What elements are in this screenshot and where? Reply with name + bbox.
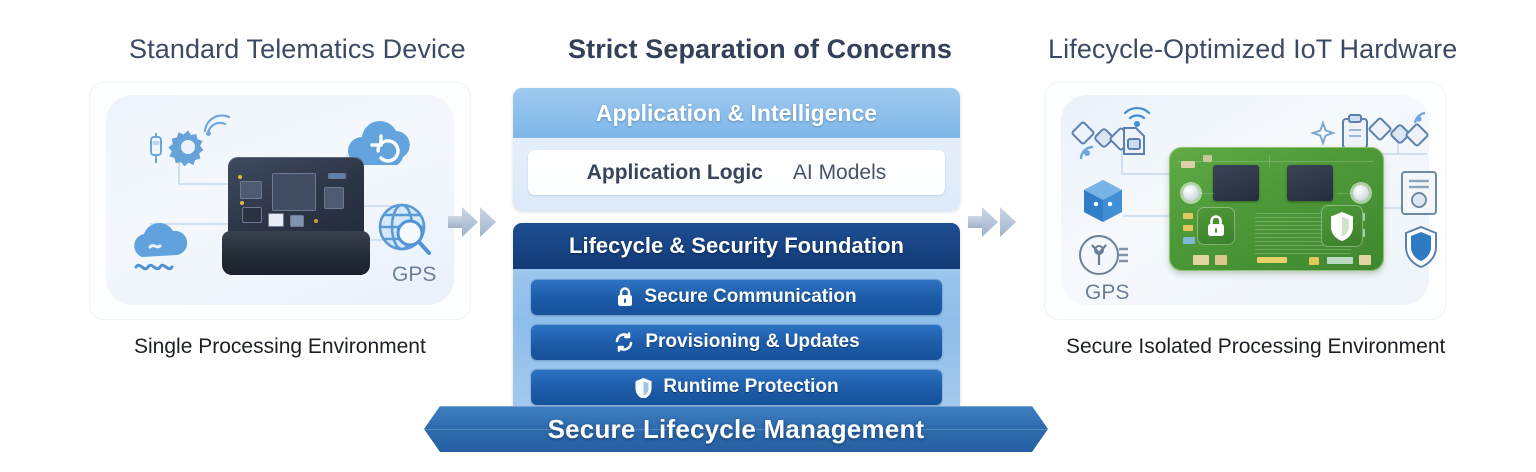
sim-card-icon [1121, 125, 1147, 157]
banner-label: Secure Lifecycle Management [424, 406, 1048, 452]
application-layer-card: Application & Intelligence Application L… [513, 88, 960, 211]
clipboard-icon [1339, 113, 1371, 151]
application-items-row: Application Logic AI Models [528, 150, 945, 195]
application-layer-header: Application & Intelligence [513, 88, 960, 138]
illustration-backdrop-right: GPS [1061, 95, 1429, 305]
flow-arrow-left [448, 205, 504, 244]
cloud-wave-icon [126, 217, 188, 277]
column-title-right: Lifecycle-Optimized IoT Hardware [1048, 34, 1457, 65]
foundation-layer-card: Lifecycle & Security Foundation Secure C… [513, 223, 960, 417]
flow-arrow-right [968, 205, 1024, 244]
shield-icon [634, 377, 653, 398]
connector-wire [1123, 215, 1173, 217]
caption-right: Secure Isolated Processing Environment [1066, 335, 1445, 359]
cube-icon [1079, 177, 1127, 225]
connector-wire [1123, 173, 1173, 175]
application-layer-body: Application Logic AI Models [513, 138, 960, 211]
caption-left: Single Processing Environment [134, 335, 426, 359]
lock-icon [616, 287, 634, 307]
application-logic-label: Application Logic [587, 161, 763, 185]
illustration-backdrop-left: GPS [106, 95, 454, 305]
pill-secure-communication[interactable]: Secure Communication [531, 279, 942, 315]
pill-label: Secure Communication [644, 286, 856, 308]
column-title-center: Strict Separation of Concerns [568, 34, 952, 65]
wifi-signal-icon [202, 111, 232, 137]
foundation-layer-body: Secure Communication Provisioning & Upda… [513, 269, 960, 417]
pill-label: Runtime Protection [663, 376, 838, 398]
architecture-stack: Application & Intelligence Application L… [513, 88, 960, 417]
telematics-device-illustration [222, 157, 370, 275]
shield-icon [1403, 225, 1439, 269]
ai-models-label: AI Models [793, 161, 886, 185]
illustration-panel-left: GPS [90, 83, 470, 319]
gps-label-left: GPS [392, 263, 436, 287]
iot-pcb-illustration [1169, 147, 1384, 271]
column-title-left: Standard Telematics Device [129, 34, 466, 65]
server-icon [1399, 169, 1439, 217]
globe-search-icon [374, 199, 438, 261]
foundation-layer-header: Lifecycle & Security Foundation [513, 223, 960, 269]
lock-icon [1197, 207, 1235, 245]
gps-label-right: GPS [1085, 281, 1129, 305]
sparkle-icon [1311, 121, 1335, 145]
diagram-canvas: Standard Telematics Device Strict Separa… [0, 0, 1536, 472]
usb-icon [146, 131, 166, 165]
gps-antenna-icon [1077, 233, 1129, 279]
secure-lifecycle-management-banner: Secure Lifecycle Management [424, 406, 1048, 452]
illustration-panel-right: GPS [1045, 83, 1445, 319]
sync-icon [613, 332, 635, 352]
shield-icon [1321, 205, 1363, 247]
pill-provisioning-updates[interactable]: Provisioning & Updates [531, 324, 942, 360]
pill-label: Provisioning & Updates [645, 331, 859, 353]
pill-runtime-protection[interactable]: Runtime Protection [531, 369, 942, 405]
